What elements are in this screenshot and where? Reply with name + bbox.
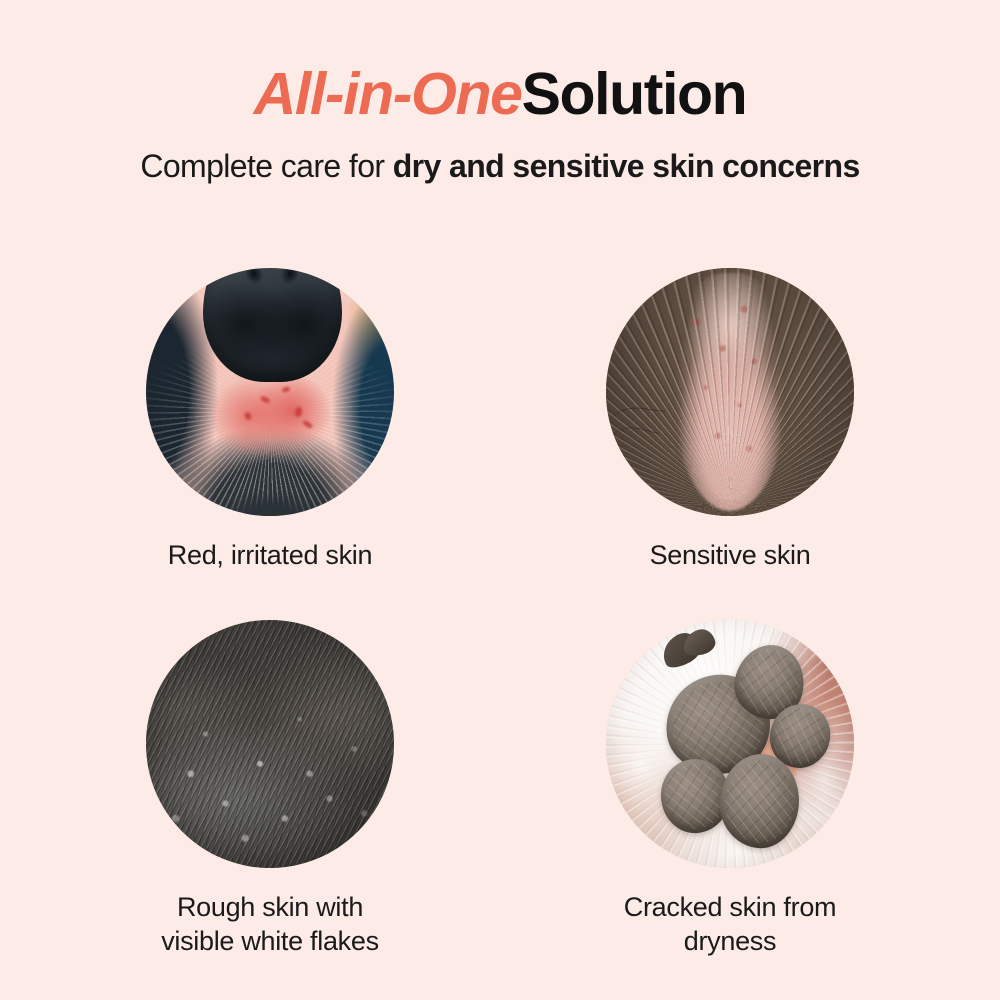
header: All-in-OneSolution Complete care for dry… [0, 58, 1000, 186]
dog-paw-pads-photo [606, 620, 854, 868]
grid-item-sensitive-skin: Sensitive skin [520, 268, 940, 572]
caption-red-irritated-skin: Red, irritated skin [60, 538, 480, 572]
caption-sensitive-skin: Sensitive skin [520, 538, 940, 572]
dog-head-skin-patch-photo [606, 268, 854, 516]
caption-line: dryness [520, 924, 940, 958]
dog-muzzle-photo [146, 268, 394, 516]
caption-rough-skin-flakes: Rough skin with visible white flakes [60, 890, 480, 958]
page-subtitle-light: Complete care for [140, 148, 392, 184]
grid-row: Rough skin with visible white flakes [0, 620, 1000, 972]
photo-vignette [606, 620, 854, 868]
irritated-pink-area [210, 372, 329, 456]
caption-line: Red, irritated skin [60, 538, 480, 572]
fur-texture [606, 268, 854, 516]
page-title-accent: All-in-One [254, 61, 522, 127]
nostril-left [241, 268, 266, 288]
nostril-right [277, 268, 302, 288]
caption-line: Sensitive skin [520, 538, 940, 572]
caption-line: Cracked skin from [520, 890, 940, 924]
grid-item-rough-skin-flakes: Rough skin with visible white flakes [60, 620, 480, 958]
condition-grid: Red, irritated skin Sensitive skin [0, 268, 1000, 972]
grid-row: Red, irritated skin Sensitive skin [0, 268, 1000, 620]
page-title-plain: Solution [522, 61, 747, 127]
caption-line: visible white flakes [60, 924, 480, 958]
dog-fur-dandruff-photo [146, 620, 394, 868]
grid-item-red-irritated-skin: Red, irritated skin [60, 268, 480, 572]
page-subtitle: Complete care for dry and sensitive skin… [0, 146, 1000, 186]
promo-page: All-in-OneSolution Complete care for dry… [0, 0, 1000, 1000]
caption-line: Rough skin with [60, 890, 480, 924]
caption-cracked-skin-dryness: Cracked skin from dryness [520, 890, 940, 958]
page-subtitle-strong: dry and sensitive skin concerns [393, 148, 860, 184]
photo-vignette [146, 620, 394, 868]
page-title: All-in-OneSolution [0, 58, 1000, 130]
grid-item-cracked-skin-dryness: Cracked skin from dryness [520, 620, 940, 958]
